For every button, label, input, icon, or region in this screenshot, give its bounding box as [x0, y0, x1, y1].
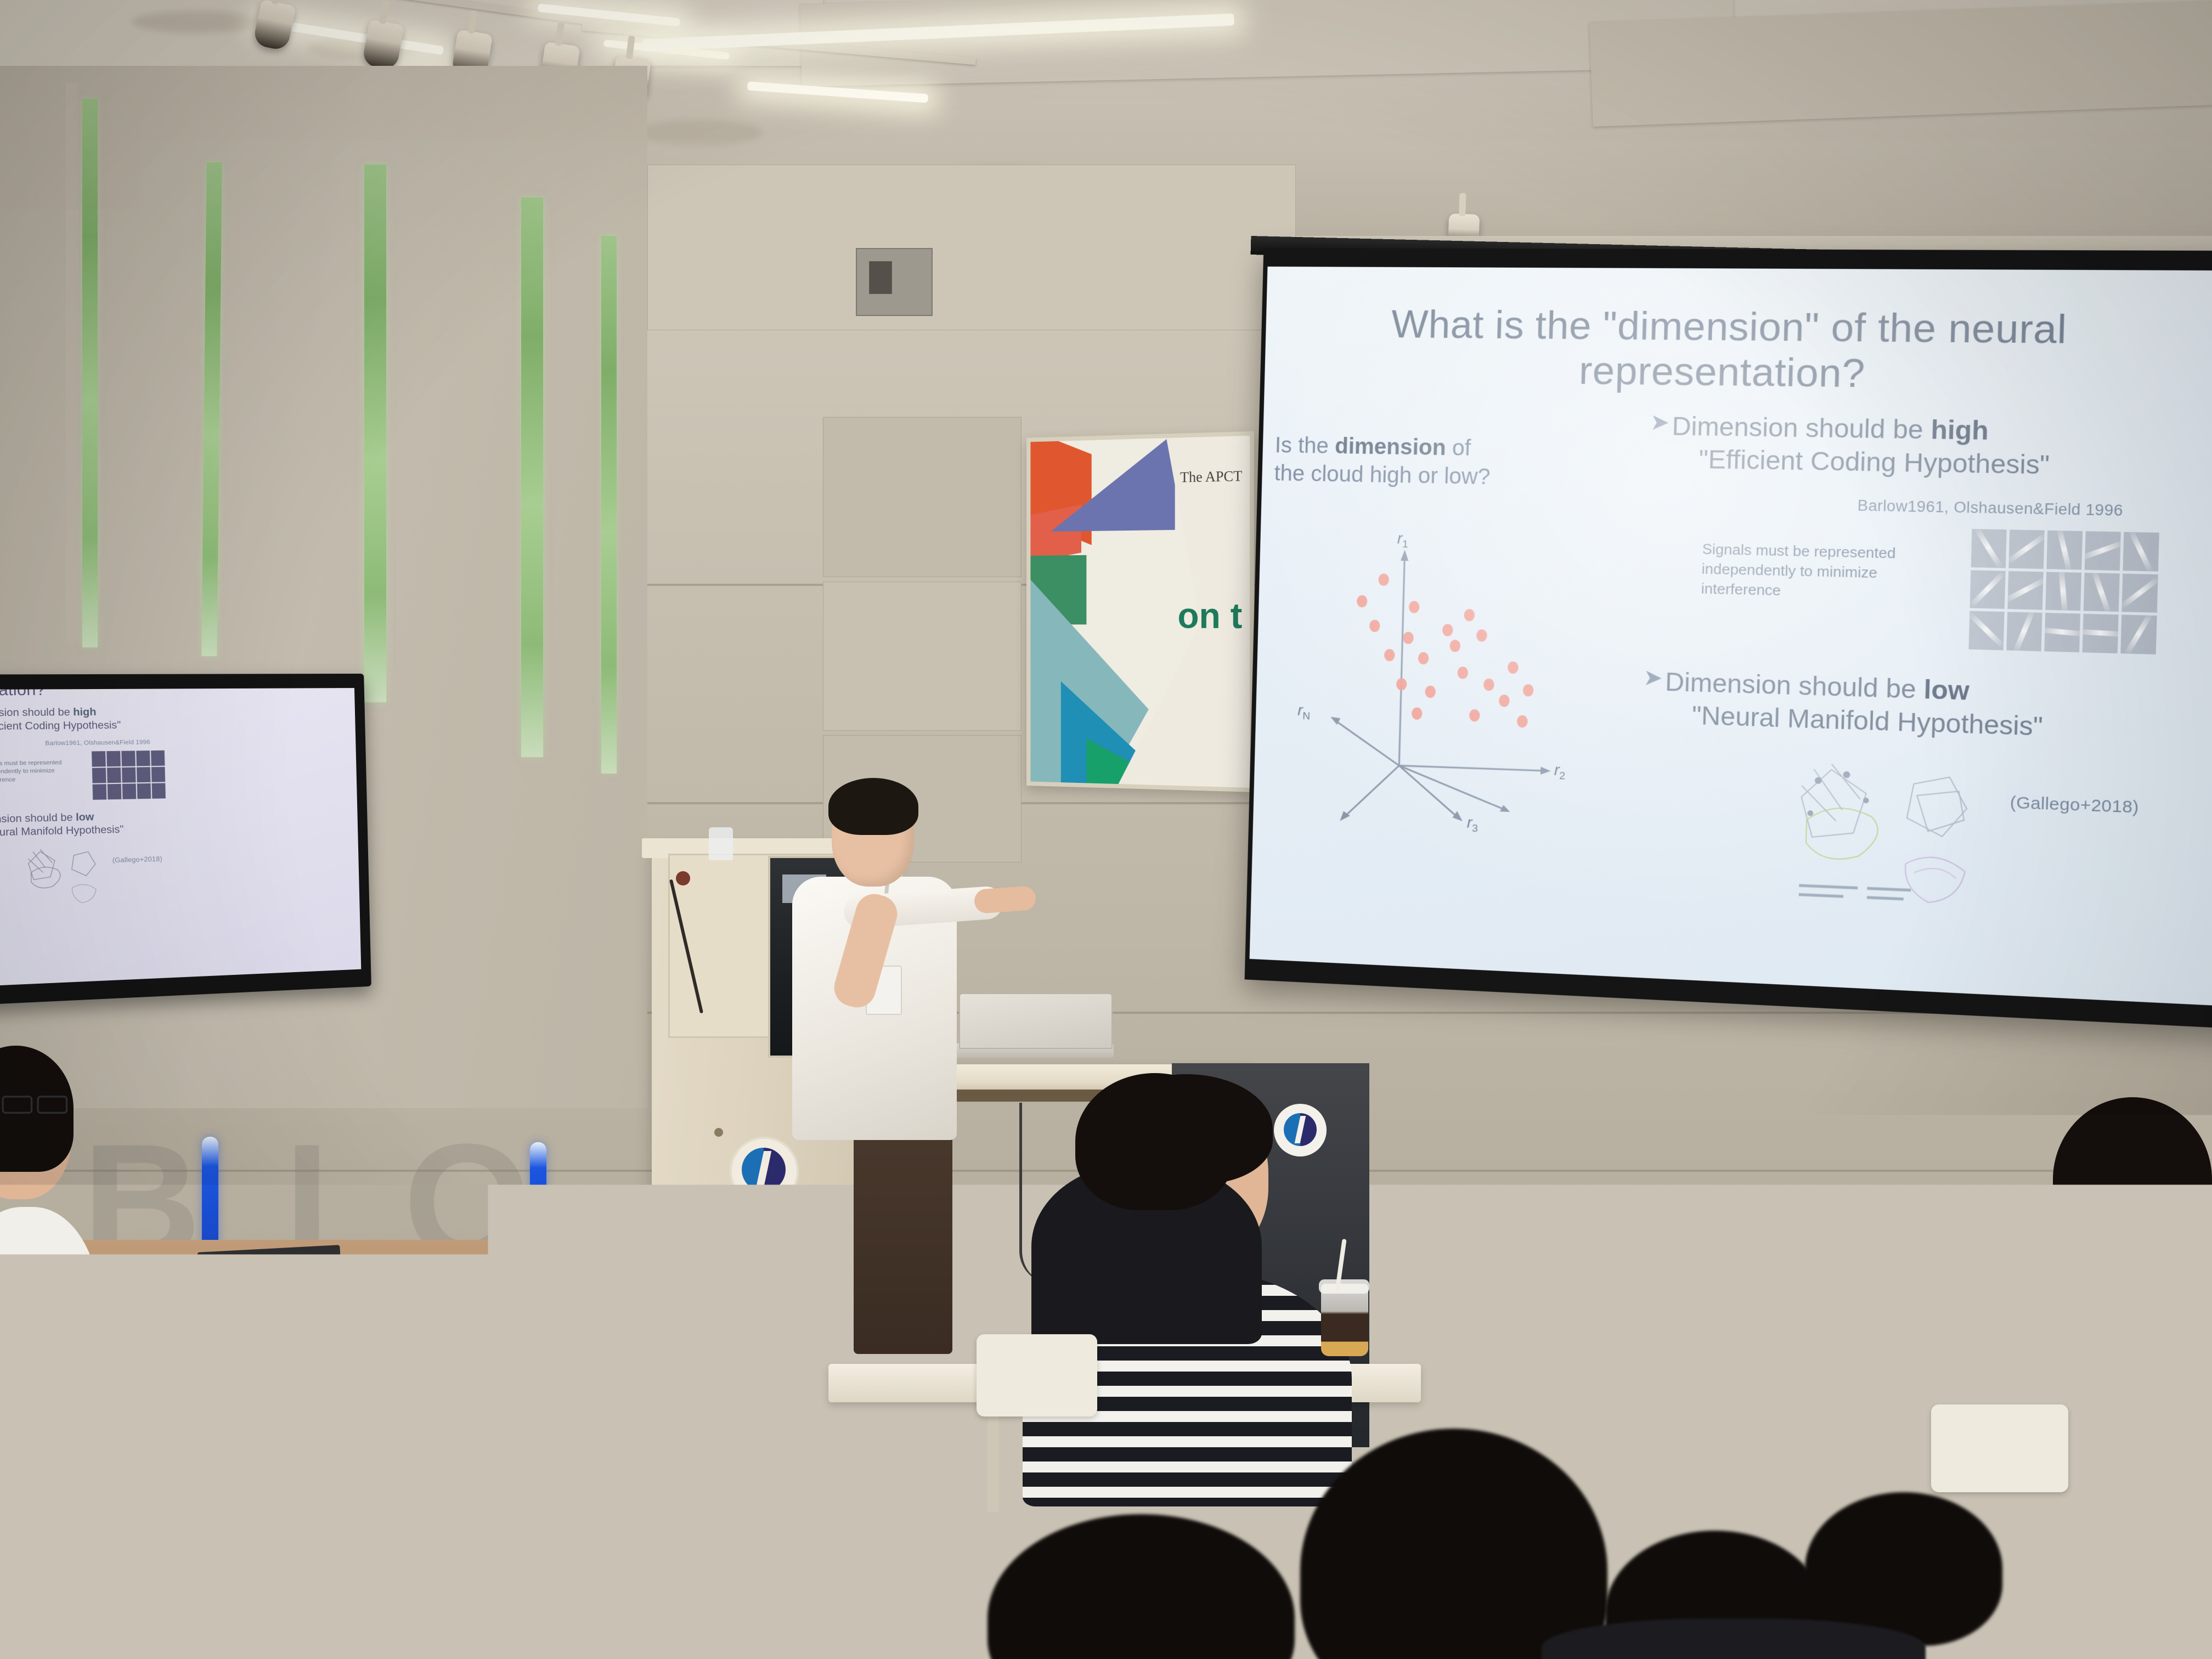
confidence-monitor-screen: What is the "dimension" of the neural re… — [0, 688, 361, 986]
eyeglasses-worn — [2, 1096, 70, 1112]
bullet-text-bold: high — [1931, 415, 1989, 445]
gabor-cell — [2045, 572, 2081, 611]
projection-screen: What is the "dimension" of the neural re… — [1250, 267, 2212, 1007]
glasses-lens-right — [37, 1096, 67, 1114]
glasses-lens-right — [2055, 1526, 2092, 1548]
axis-label-r1: r1 — [1397, 529, 1408, 550]
confidence-monitor: What is the "dimension" of the neural re… — [0, 674, 371, 1005]
scatter-dot — [1369, 620, 1380, 633]
panel-institution-logo — [1274, 1104, 1327, 1156]
gabor-cell — [2044, 613, 2080, 652]
question-line2: the cloud high or low? — [1274, 461, 1491, 489]
scatter-dot — [1499, 695, 1510, 707]
slide-question: Is the dimension of the cloud high or lo… — [1274, 431, 1537, 492]
gabor-cell — [1968, 611, 2004, 650]
presenter-hand — [974, 885, 1037, 914]
citation-efficient-coding: Barlow1961, Olshausen&Field 1996 — [1857, 497, 2123, 520]
scatter-dot — [1516, 715, 1527, 727]
monitor-bullet-high: ➤Dimension should be high"Efficient Codi… — [0, 705, 146, 733]
podium-screw — [714, 1128, 723, 1137]
gabor-filter-grid — [1968, 529, 2159, 654]
banner-shape-red — [1026, 505, 1081, 563]
bullet-subtitle: "Efficient Coding Hypothesis" — [1699, 443, 2050, 481]
audience-hair — [2053, 1097, 2212, 1262]
banner-title: The APCT — [1180, 468, 1242, 486]
gabor-cell — [2007, 571, 2043, 610]
slide-bullet-high: ➤Dimension should be high"Efficient Codi… — [1649, 410, 2118, 482]
state-space-scatter: r1 r2 r3 rN — [1275, 503, 1596, 834]
presenter-hair — [828, 778, 918, 835]
water-cup — [709, 827, 733, 860]
microphone-head-icon — [676, 871, 690, 885]
monitor-gabor-grid — [92, 751, 166, 800]
bullet-arrow-icon: ➤ — [1643, 665, 1666, 691]
gabor-cell — [2121, 573, 2158, 613]
axis-label-r3: r3 — [1466, 814, 1478, 835]
wall-speaker-grille — [869, 261, 892, 294]
axis-label-r2: r2 — [1554, 761, 1566, 782]
monitor-slide-mirror: What is the "dimension" of the neural re… — [0, 688, 210, 950]
glasses-lens-left — [2012, 1526, 2050, 1548]
bullet-text: Dimension should be high"Efficient Codin… — [1671, 410, 2051, 481]
audience-hair — [1075, 1073, 1234, 1210]
gabor-cell — [121, 751, 136, 766]
desk-leg — [988, 1402, 998, 1512]
gabor-cell — [108, 784, 122, 799]
monitor-citation-2: (Gallego+2018) — [112, 855, 162, 865]
question-line1-post: of — [1446, 436, 1471, 460]
gabor-cell — [1970, 570, 2005, 609]
scatter-dot — [1457, 667, 1468, 679]
ceiling-recess — [636, 120, 763, 146]
gabor-cell — [92, 751, 106, 766]
institution-logo: 대학교 — [730, 1137, 799, 1206]
window-slit — [364, 165, 386, 702]
necklace — [1793, 1466, 1908, 1477]
logo-korean-text: 대학교 — [730, 1187, 799, 1197]
window-mullion — [66, 82, 78, 642]
monitor-bullet-low: ➤Dimension should be low"Neural Manifold… — [0, 809, 151, 839]
monitor-manifold-figure — [23, 840, 111, 919]
projection-screen-frame: What is the "dimension" of the neural re… — [1245, 248, 2212, 1030]
gabor-cell — [93, 784, 107, 799]
gabor-cell — [152, 783, 166, 799]
ceiling-recess — [132, 11, 263, 33]
bullet-text-pre: Dimension should be — [1672, 411, 1931, 444]
logo-mark-icon — [1284, 1113, 1317, 1146]
neural-manifold-figure — [1786, 746, 2005, 943]
audience-laptop-base — [2008, 1501, 2172, 1520]
gabor-cell — [122, 783, 137, 799]
question-line1-bold: dimension — [1335, 434, 1447, 460]
presentation-slide: What is the "dimension" of the neural re… — [1250, 267, 2212, 1007]
wall-panel — [823, 417, 1022, 577]
gabor-cell — [107, 768, 121, 783]
window-slit — [82, 99, 98, 647]
chair-back — [1931, 1404, 2068, 1492]
scatter-dot — [1483, 679, 1494, 691]
gabor-cell — [92, 768, 106, 783]
axis-label-rN: rN — [1297, 702, 1311, 723]
signal-note: Signals must be represented independentl… — [1701, 539, 1955, 605]
wall-panel — [647, 165, 1296, 330]
gabor-cell — [151, 751, 165, 766]
gabor-cell — [106, 751, 121, 766]
wall-speaker — [856, 248, 933, 316]
gabor-cell — [2083, 614, 2119, 653]
laptop-lid — [959, 993, 1113, 1049]
citation-gallego: (Gallego+2018) — [2010, 793, 2139, 817]
question-line1-pre: Is the — [1274, 433, 1335, 458]
coffee-cup — [138, 1260, 177, 1312]
gabor-cell — [2008, 529, 2044, 568]
audience-laptop — [2090, 1393, 2212, 1505]
gabor-cell — [2046, 531, 2083, 569]
window-slit — [521, 198, 543, 757]
audience-hair — [1760, 1252, 1941, 1417]
gabor-cell — [122, 767, 136, 782]
gabor-cell — [2084, 573, 2120, 612]
conference-banner: The APCT on t — [1026, 431, 1254, 792]
gabor-cell — [137, 783, 151, 799]
bullet-subtitle: "Neural Manifold Hypothesis" — [1691, 699, 2043, 743]
presenter-legs — [854, 1118, 952, 1354]
banner-main-text: on t — [1178, 595, 1243, 636]
gabor-cell — [2123, 532, 2159, 572]
slide-bullet-low: ➤Dimension should be low"Neural Manifold… — [1642, 665, 2116, 745]
glasses-lens-left — [2, 1096, 33, 1114]
monitor-citation-1: Barlow1961, Olshausen&Field 1996 — [45, 738, 150, 747]
iced-drink-cup — [1321, 1284, 1368, 1356]
lecture-hall-photo: The APCT on t What is the "dimension" of… — [0, 0, 2212, 1659]
bullet-arrow-icon: ➤ — [1650, 410, 1672, 435]
gabor-cell — [2085, 531, 2121, 571]
monitor-slide-title: What is the "dimension" of the neural re… — [0, 688, 141, 700]
cup-lid — [1319, 1279, 1369, 1294]
scatter-dot — [1378, 573, 1389, 586]
gabor-cell — [2120, 615, 2157, 654]
wall-panel — [823, 582, 1022, 731]
window-slit — [601, 236, 617, 774]
gabor-cell — [136, 751, 150, 766]
desk-leg — [1679, 1401, 1690, 1500]
ceiling-slab — [1589, 0, 2212, 127]
scatter-dot — [1411, 707, 1422, 720]
eyeglasses — [2012, 1526, 2095, 1546]
bullet-text: Dimension should be low"Neural Manifold … — [0, 809, 124, 839]
slide-title: What is the "dimension" of the neural re… — [1352, 302, 2108, 399]
gabor-cell — [2006, 612, 2042, 652]
monitor-signal-note: Signals must be represented independentl… — [0, 758, 86, 783]
bullet-text-pre: Dimension should be — [1665, 667, 1925, 704]
bullet-text-bold: low — [1923, 674, 1970, 706]
bullet-text: Dimension should be low"Neural Manifold … — [1664, 666, 2044, 743]
chair-back — [977, 1334, 1097, 1417]
gabor-cell — [1971, 529, 2007, 568]
logo-mark-icon — [742, 1148, 786, 1192]
gabor-cell — [151, 767, 165, 782]
gabor-cell — [137, 767, 150, 782]
bullet-text: Dimension should be high"Efficient Codin… — [0, 705, 121, 733]
